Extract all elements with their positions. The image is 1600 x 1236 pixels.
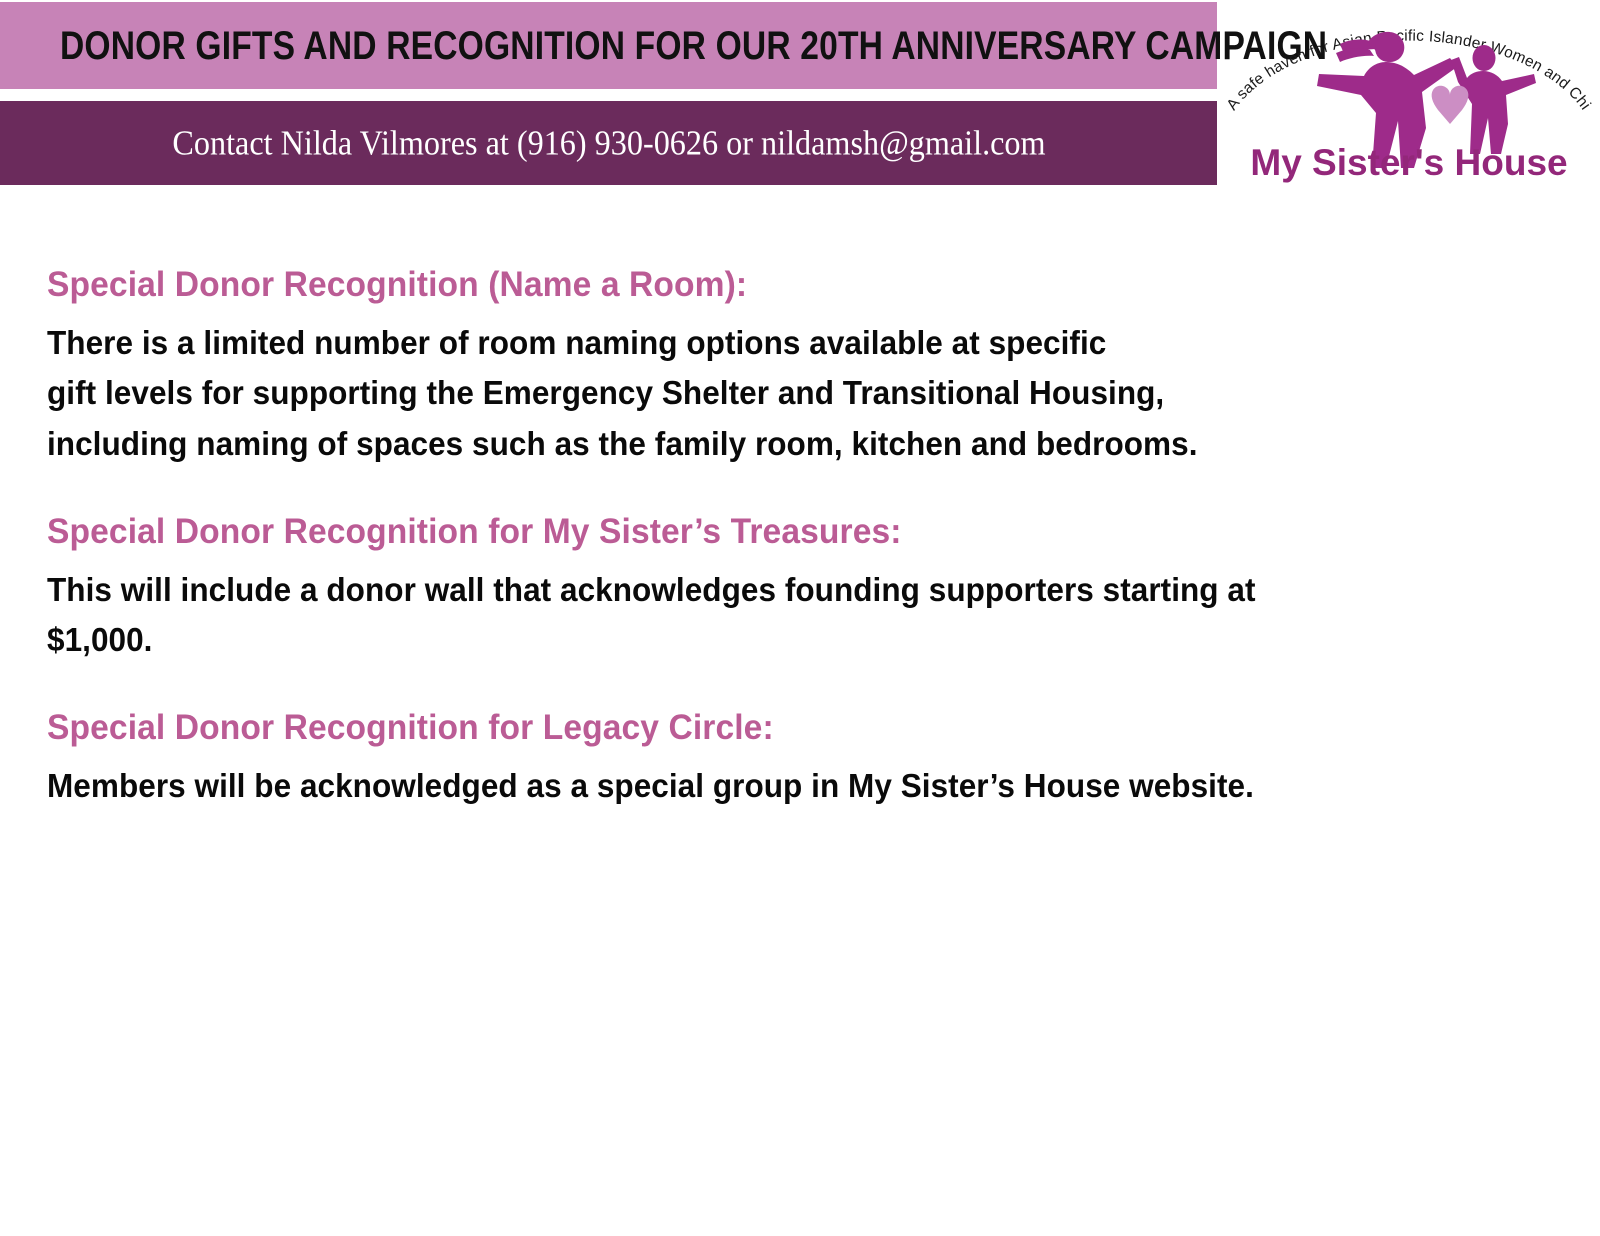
section-body: This will include a donor wall that ackn…: [47, 565, 1403, 665]
contact-bar: Contact Nilda Vilmores at (916) 930-0626…: [0, 101, 1217, 185]
heart-icon: [1432, 86, 1469, 124]
logo-svg: A safe haven for Asian Pacific Islander …: [1218, 0, 1600, 190]
section-body: Members will be acknowledged as a specia…: [47, 761, 1403, 811]
main-content: Special Donor Recognition (Name a Room):…: [47, 262, 1467, 812]
body-line: There is a limited number of room naming…: [47, 318, 1403, 368]
organization-logo: A safe haven for Asian Pacific Islander …: [1218, 0, 1600, 190]
section-my-sisters-treasures: Special Donor Recognition for My Sister’…: [47, 509, 1467, 666]
section-heading: Special Donor Recognition for Legacy Cir…: [47, 705, 1410, 751]
body-line: $1,000.: [47, 615, 1403, 665]
page-title: DONOR GIFTS AND RECOGNITION FOR OUR 20TH…: [60, 26, 1327, 66]
contact-info-text: Contact Nilda Vilmores at (916) 930-0626…: [172, 126, 1045, 161]
child-head: [1473, 45, 1496, 71]
body-line: gift levels for supporting the Emergency…: [47, 368, 1403, 418]
body-line: This will include a donor wall that ackn…: [47, 565, 1403, 615]
section-heading: Special Donor Recognition for My Sister’…: [47, 509, 1410, 555]
woman-head: [1375, 34, 1401, 62]
section-name-a-room: Special Donor Recognition (Name a Room):…: [47, 262, 1467, 469]
section-heading: Special Donor Recognition (Name a Room):: [47, 262, 1410, 308]
header: DONOR GIFTS AND RECOGNITION FOR OUR 20TH…: [0, 0, 1600, 190]
section-body: There is a limited number of room naming…: [47, 318, 1403, 468]
section-legacy-circle: Special Donor Recognition for Legacy Cir…: [47, 705, 1467, 811]
organization-name: My Sister's House: [1250, 142, 1567, 183]
body-line: Members will be acknowledged as a specia…: [47, 761, 1403, 811]
title-bar: DONOR GIFTS AND RECOGNITION FOR OUR 20TH…: [0, 2, 1217, 89]
body-line: including naming of spaces such as the f…: [47, 419, 1403, 469]
